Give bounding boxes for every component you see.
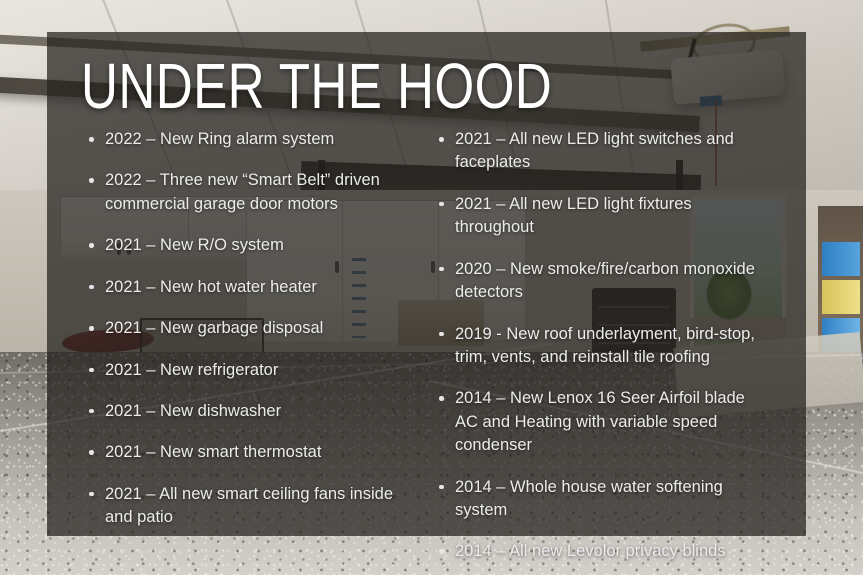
storage-bin <box>822 242 860 276</box>
list-item: 2021 – All new LED light fixtures throug… <box>437 193 767 240</box>
slide-title: UNDER THE HOOD <box>81 54 552 118</box>
list-item: 2021 – New R/O system <box>87 234 417 257</box>
left-column: 2022 – New Ring alarm system 2022 – Thre… <box>87 128 417 548</box>
list-item: 2021 – New smart thermostat <box>87 441 417 464</box>
slide: UNDER THE HOOD 2022 – New Ring alarm sys… <box>0 0 863 575</box>
list-item: 2021 – New garbage disposal <box>87 317 417 340</box>
list-item: 2021 – All new smart ceiling fans inside… <box>87 483 417 530</box>
list-item: 2014 – New Lenox 16 Seer Airfoil blade A… <box>437 387 767 457</box>
list-item: 2020 – New smoke/fire/carbon monoxide de… <box>437 258 767 305</box>
list-item: 2021 – New refrigerator <box>87 359 417 382</box>
list-item: 2021 – New dishwasher <box>87 400 417 423</box>
storage-bin <box>822 280 860 314</box>
left-bullet-list: 2022 – New Ring alarm system 2022 – Thre… <box>87 128 417 530</box>
right-bullet-list: 2021 – All new LED light switches and fa… <box>437 128 767 564</box>
right-column: 2021 – All new LED light switches and fa… <box>437 128 767 575</box>
list-item: 2022 – Three new “Smart Belt” driven com… <box>87 169 417 216</box>
list-item: 2019 - New roof underlayment, bird-stop,… <box>437 323 767 370</box>
list-item: 2014 – All new Levolor privacy blinds <box>437 540 767 563</box>
list-item: 2022 – New Ring alarm system <box>87 128 417 151</box>
slide-content: UNDER THE HOOD 2022 – New Ring alarm sys… <box>47 32 806 536</box>
list-item: 2014 – Whole house water softening syste… <box>437 476 767 523</box>
list-item: 2021 – New hot water heater <box>87 276 417 299</box>
list-item: 2021 – All new LED light switches and fa… <box>437 128 767 175</box>
